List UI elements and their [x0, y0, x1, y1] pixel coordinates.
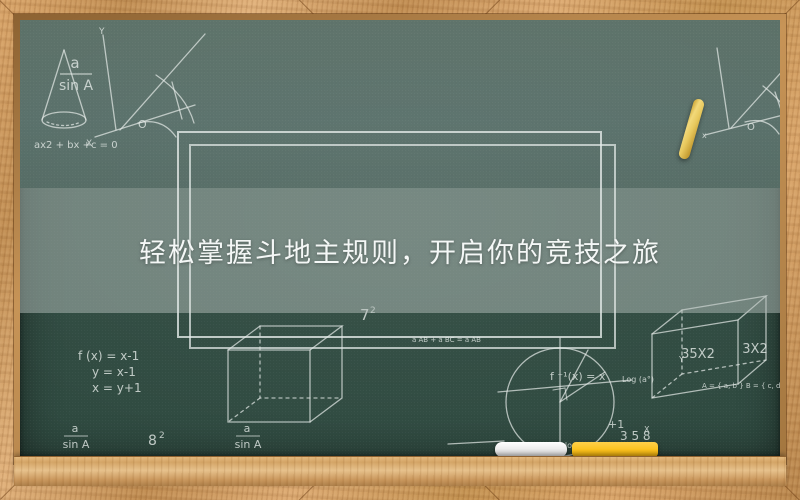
chalk-eight-base: 8: [148, 433, 157, 449]
chalk-fx-line1: f (x) = x-1: [78, 349, 139, 363]
chalk-axis-y-right: Y: [678, 355, 684, 364]
chalk-log-label: Log (a°): [622, 375, 654, 384]
chalk-frac2-a: a: [72, 422, 79, 435]
chalk-fx-line2: y = x-1: [92, 365, 136, 379]
banner-title: 轻松掌握斗地主规则，开启你的竞技之旅: [139, 231, 661, 270]
ledge-wood-grain: [14, 457, 786, 486]
chalk-frac3-sina: sin A: [235, 438, 262, 451]
chalk-vector-expr: a AB + a BC = a AB: [412, 336, 481, 344]
chalkboard-banner: a sin A ax2 + bx +c = 0 Y X O O x f (x) …: [0, 0, 800, 500]
board-eraser: [495, 442, 567, 457]
chalk-ledge: [14, 456, 786, 486]
chalk-mult-35x2: 35X2: [681, 347, 715, 362]
chalk-frac2-sina: sin A: [63, 438, 90, 451]
cube-drawing-center: [228, 326, 342, 422]
chalk-mult-3x2: 3X2: [742, 342, 767, 357]
chalk-fx-line3: x = y+1: [92, 381, 142, 395]
addition-rule-line: [448, 441, 504, 444]
chalk-sum-plus: +1: [608, 418, 624, 431]
chalk-set-expr: A = { a, b } B = { c, d } = { a, b }: [702, 382, 780, 390]
chalk-frac3-a: a: [244, 422, 251, 435]
chalkboard-surface: a sin A ax2 + bx +c = 0 Y X O O x f (x) …: [20, 20, 780, 458]
chalk-addend-1: 3 5 8: [620, 429, 651, 443]
title-container: 轻松掌握斗地主规则，开启你的竞技之旅: [20, 188, 780, 313]
chalk-inverse-fn: f ⁻¹(x) = x: [550, 370, 606, 383]
board-upper-tone: [20, 20, 780, 188]
chalk-axis-x-bottom: X: [644, 425, 650, 434]
circle-diagram: [498, 338, 632, 458]
chalk-eight-exp: 2: [159, 431, 165, 441]
yellow-chalk: [572, 442, 658, 457]
